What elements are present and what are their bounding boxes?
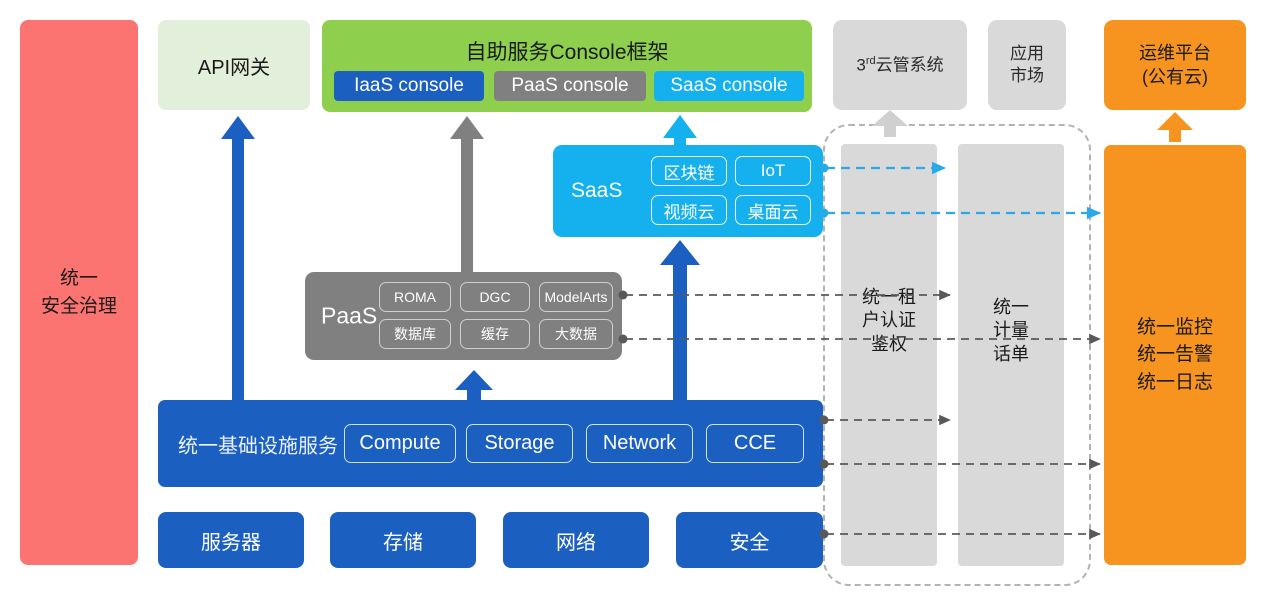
infra-label: 统一基础设施服务 bbox=[178, 429, 338, 458]
billing-line1: 统一 bbox=[958, 296, 1064, 319]
iaas-console-chip[interactable]: IaaS console bbox=[334, 71, 484, 101]
saas-chip-desktop-cloud[interactable]: 桌面云 bbox=[735, 195, 811, 225]
unified-billing-column[interactable]: 统一 计量 话单 bbox=[958, 144, 1064, 566]
ops-column-line3: 统一日志 bbox=[1137, 369, 1213, 397]
paas-chip-bigdata[interactable]: 大数据 bbox=[539, 319, 613, 349]
infra-chip-compute[interactable]: Compute bbox=[344, 424, 456, 463]
saas-box[interactable]: SaaS 区块链 IoT 视频云 桌面云 bbox=[553, 145, 823, 237]
base-layer-storage[interactable]: 存储 bbox=[330, 512, 476, 568]
infra-chip-cce[interactable]: CCE bbox=[706, 424, 804, 463]
paas-chip-cache[interactable]: 缓存 bbox=[460, 319, 530, 349]
infra-chip-storage[interactable]: Storage bbox=[466, 424, 573, 463]
saas-chip-iot-label: IoT bbox=[761, 161, 786, 181]
saas-chip-blockchain[interactable]: 区块链 bbox=[651, 156, 727, 186]
unified-infrastructure-service-bar[interactable]: 统一基础设施服务 Compute Storage Network CCE bbox=[158, 400, 823, 487]
app-market-line2: 市场 bbox=[1010, 65, 1044, 87]
paas-chip-dgc[interactable]: DGC bbox=[460, 282, 530, 312]
ops-platform-line2: (公有云) bbox=[1142, 65, 1208, 89]
saas-console-chip[interactable]: SaaS console bbox=[654, 71, 804, 101]
third-party-prefix: 3 bbox=[856, 55, 865, 74]
api-gateway-label: API网关 bbox=[198, 51, 270, 80]
base-layer-network-label: 网络 bbox=[556, 526, 596, 555]
third-party-superscript: rd bbox=[866, 55, 876, 67]
ops-platform-line1: 运维平台 bbox=[1139, 41, 1211, 65]
arrow-paas-to-console bbox=[450, 116, 484, 272]
paas-console-label: PaaS console bbox=[511, 75, 628, 97]
arrow-infra-to-paas bbox=[455, 370, 493, 400]
infra-chip-network[interactable]: Network bbox=[586, 424, 693, 463]
infra-chip-storage-label: Storage bbox=[484, 432, 554, 455]
paas-chip-database[interactable]: 数据库 bbox=[379, 319, 451, 349]
billing-line3: 话单 bbox=[958, 343, 1064, 366]
auth-line3: 鉴权 bbox=[841, 333, 937, 356]
saas-chip-video-cloud[interactable]: 视频云 bbox=[651, 195, 727, 225]
unified-tenant-auth-text: 统一租 户认证 鉴权 bbox=[841, 286, 937, 356]
iaas-console-label: IaaS console bbox=[354, 75, 464, 97]
paas-chip-modelarts[interactable]: ModelArts bbox=[539, 282, 613, 312]
auth-line1: 统一租 bbox=[841, 286, 937, 309]
paas-chip-cache-label: 缓存 bbox=[481, 324, 509, 344]
base-layer-server[interactable]: 服务器 bbox=[158, 512, 304, 568]
paas-chip-dgc-label: DGC bbox=[479, 289, 510, 305]
security-governance-line2: 安全治理 bbox=[41, 293, 117, 321]
app-market-line1: 应用 bbox=[1010, 43, 1044, 65]
console-frame-title: 自助服务Console框架 bbox=[322, 36, 812, 66]
base-layer-security[interactable]: 安全 bbox=[676, 512, 823, 568]
paas-box[interactable]: PaaS ROMA DGC ModelArts 数据库 缓存 大数据 bbox=[305, 272, 622, 360]
base-layer-storage-label: 存储 bbox=[383, 526, 423, 555]
paas-chip-modelarts-label: ModelArts bbox=[544, 289, 607, 305]
paas-chip-roma-label: ROMA bbox=[394, 289, 436, 305]
saas-chip-desktop-cloud-label: 桌面云 bbox=[748, 198, 799, 223]
app-market-box[interactable]: 应用 市场 bbox=[988, 20, 1066, 110]
arrow-saas-to-console bbox=[663, 115, 697, 145]
saas-chip-video-cloud-label: 视频云 bbox=[664, 198, 715, 223]
arrow-ops-column-to-ops-platform bbox=[1157, 112, 1193, 142]
saas-chip-blockchain-label: 区块链 bbox=[664, 159, 715, 184]
infra-chip-compute-label: Compute bbox=[359, 432, 440, 455]
paas-console-chip[interactable]: PaaS console bbox=[494, 71, 646, 101]
unified-security-governance-panel[interactable]: 统一 安全治理 bbox=[20, 20, 138, 565]
infra-chip-network-label: Network bbox=[603, 432, 676, 455]
ops-column-line2: 统一告警 bbox=[1137, 341, 1213, 369]
paas-chip-bigdata-label: 大数据 bbox=[555, 324, 597, 344]
self-service-console-frame[interactable]: 自助服务Console框架 IaaS console PaaS console … bbox=[322, 20, 812, 112]
third-party-cloud-management-box[interactable]: 3rd云管系统 bbox=[833, 20, 967, 110]
ops-platform-box[interactable]: 运维平台 (公有云) bbox=[1104, 20, 1246, 110]
ops-column-line1: 统一监控 bbox=[1137, 314, 1213, 342]
third-party-label: 3rd云管系统 bbox=[856, 54, 943, 77]
base-layer-network[interactable]: 网络 bbox=[503, 512, 649, 568]
ops-monitoring-column[interactable]: 统一监控 统一告警 统一日志 bbox=[1104, 145, 1246, 565]
auth-line2: 户认证 bbox=[841, 309, 937, 332]
arrow-infra-to-saas bbox=[660, 240, 700, 400]
base-layer-server-label: 服务器 bbox=[201, 526, 261, 555]
saas-chip-iot[interactable]: IoT bbox=[735, 156, 811, 186]
security-governance-line1: 统一 bbox=[60, 265, 98, 293]
paas-chip-database-label: 数据库 bbox=[394, 324, 436, 344]
paas-chip-roma[interactable]: ROMA bbox=[379, 282, 451, 312]
api-gateway-box[interactable]: API网关 bbox=[158, 20, 310, 110]
unified-billing-text: 统一 计量 话单 bbox=[958, 296, 1064, 366]
saas-label: SaaS bbox=[571, 179, 622, 203]
infra-chip-cce-label: CCE bbox=[734, 432, 776, 455]
paas-label: PaaS bbox=[321, 303, 377, 330]
unified-tenant-auth-column[interactable]: 统一租 户认证 鉴权 bbox=[841, 144, 937, 566]
arrow-infra-to-api-gateway bbox=[221, 116, 255, 400]
saas-console-label: SaaS console bbox=[670, 75, 787, 97]
architecture-diagram: 统一 安全治理 API网关 自助服务Console框架 IaaS console… bbox=[0, 0, 1265, 605]
base-layer-security-label: 安全 bbox=[730, 526, 770, 555]
billing-line2: 计量 bbox=[958, 319, 1064, 342]
third-party-suffix: 云管系统 bbox=[876, 55, 944, 74]
